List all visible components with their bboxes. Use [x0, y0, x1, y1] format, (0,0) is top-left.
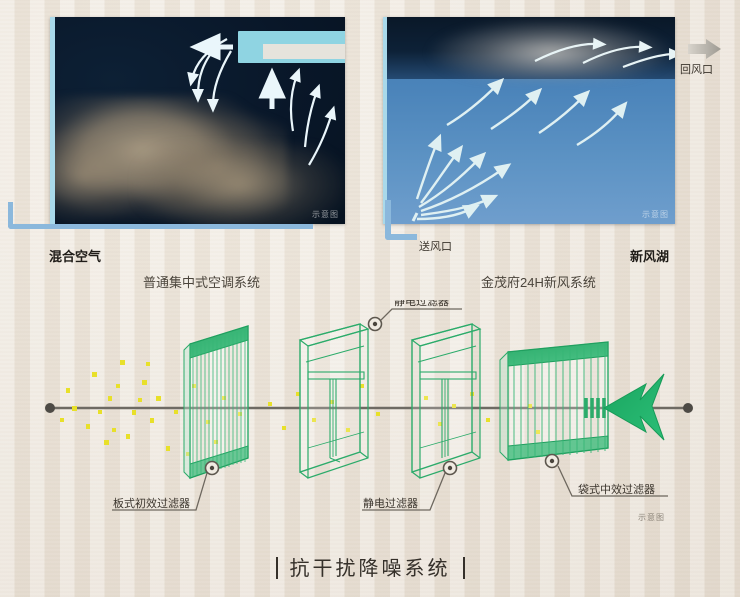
label-system-left: 普通集中式空调系统	[143, 272, 260, 291]
label-return-air: 回风口	[680, 61, 713, 77]
supply-air-duct-elbow	[385, 200, 417, 240]
filter-plate-primary	[184, 326, 248, 478]
panel-watermark: 示意图	[312, 209, 339, 220]
mixed-air-arrows	[55, 17, 345, 224]
svg-text:静电过滤器: 静电过滤器	[394, 300, 449, 308]
caption-mixed-air: 混合空气	[49, 246, 101, 265]
panel-watermark: 示意图	[642, 209, 669, 220]
fresh-air-panel: 示意图	[383, 17, 675, 224]
diagram-watermark: 示意图	[638, 512, 665, 523]
filter-bag-medium	[500, 342, 608, 460]
return-air-arrow-icon	[688, 38, 722, 60]
caption-fresh-air: 新风湖	[630, 246, 669, 265]
label-supply-air: 送风口	[419, 238, 452, 254]
filter-train-diagram: 静电过滤器 板式初效过滤器 静电过滤器 袋式中效过滤器	[0, 300, 740, 545]
footer-title-text: 抗干扰降噪系统	[290, 558, 451, 580]
svg-text:板式初效过滤器: 板式初效过滤器	[113, 496, 190, 510]
footer-section-title: 抗干扰降噪系统	[0, 552, 740, 581]
mixed-air-panel: 示意图	[50, 17, 345, 224]
page-background: 示意图	[0, 0, 740, 597]
filter-electrostatic-1	[300, 324, 368, 478]
callout-bag-medium-filter: 袋式中效过滤器	[546, 455, 669, 497]
supply-air-duct	[8, 202, 313, 229]
callout-electrostatic-filter-bottom: 静电过滤器	[362, 462, 457, 511]
title-bar-left	[276, 557, 278, 579]
title-bar-right	[463, 557, 465, 579]
svg-text:袋式中效过滤器: 袋式中效过滤器	[578, 482, 655, 496]
filter-electrostatic-2	[412, 324, 480, 478]
callout-electrostatic-filter-top: 静电过滤器	[369, 300, 463, 331]
label-system-right: 金茂府24H新风系统	[481, 272, 596, 291]
svg-text:静电过滤器: 静电过滤器	[363, 496, 418, 510]
fresh-air-arrows	[387, 17, 675, 224]
